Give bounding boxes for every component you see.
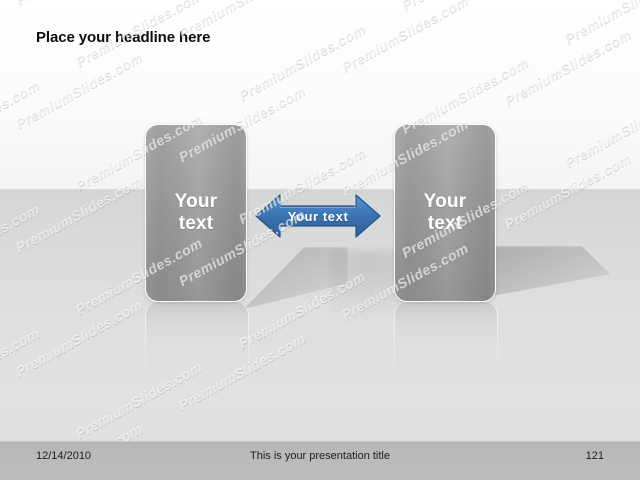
right-panel[interactable]: Your text	[394, 124, 496, 302]
double-arrow-connector[interactable]: Your text	[254, 192, 382, 240]
right-panel-reflection	[394, 302, 498, 385]
page-title: Place your headline here	[36, 29, 210, 46]
left-panel[interactable]: Your text	[145, 124, 247, 302]
left-panel-reflection	[145, 302, 249, 385]
left-panel-label: Your text	[175, 191, 218, 234]
double-arrow-icon	[254, 192, 382, 240]
footer-presentation-title: This is your presentation title	[0, 450, 640, 462]
slide-canvas: Your text Your text Your text Place your…	[0, 0, 640, 480]
footer-page-number: 121	[586, 450, 604, 462]
right-panel-label: Your text	[424, 191, 467, 234]
horizon-line	[0, 188, 640, 190]
